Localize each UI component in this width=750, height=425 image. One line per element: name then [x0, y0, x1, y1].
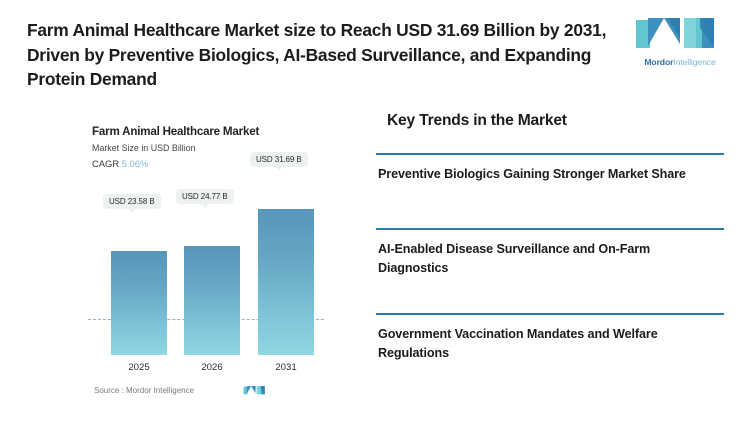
- chart-panel: Farm Animal Healthcare Market Market Siz…: [0, 100, 355, 425]
- chart-cagr: CAGR 5.06%: [92, 158, 148, 169]
- trend-divider-2: [376, 228, 724, 230]
- trend-divider-3: [376, 313, 724, 315]
- chart-title: Farm Animal Healthcare Market: [92, 125, 259, 138]
- trend-item-2[interactable]: AI-Enabled Disease Surveillance and On-F…: [376, 228, 724, 278]
- chart-source: Source : Mordor Intelligence: [94, 386, 194, 395]
- bar-chart-plot: USD 23.58 B USD 24.77 B USD 31.69 B: [92, 175, 322, 355]
- x-axis-label-2025: 2025: [111, 362, 167, 373]
- x-axis-label-2031: 2031: [258, 362, 314, 373]
- bar-2026: [184, 246, 240, 355]
- data-label-2025: USD 23.58 B: [103, 194, 161, 209]
- page-header: Farm Animal Healthcare Market size to Re…: [0, 0, 750, 96]
- data-label-2026: USD 24.77 B: [176, 189, 234, 204]
- bar-2025: [111, 251, 167, 355]
- mordor-logo-icon: [634, 14, 726, 54]
- x-axis-label-2026: 2026: [184, 362, 240, 373]
- x-axis: 2025 2026 2031: [92, 362, 322, 378]
- chart-subtitle: Market Size in USD Billion: [92, 143, 196, 153]
- trend-divider-1: [376, 153, 724, 155]
- brand-logo: MordorIntelligence: [632, 14, 728, 72]
- page-title: Farm Animal Healthcare Market size to Re…: [27, 18, 607, 92]
- trend-item-3[interactable]: Government Vaccination Mandates and Welf…: [376, 313, 724, 363]
- source-mordor-logo-icon: [243, 384, 268, 397]
- trend-item-1[interactable]: Preventive Biologics Gaining Stronger Ma…: [376, 153, 724, 184]
- logo-word-intelligence: Intelligence: [673, 57, 715, 67]
- trend-text-3: Government Vaccination Mandates and Welf…: [376, 325, 688, 363]
- trend-text-2: AI-Enabled Disease Surveillance and On-F…: [376, 240, 688, 278]
- data-label-2031: USD 31.69 B: [250, 152, 308, 167]
- cagr-value: 5.06%: [122, 158, 149, 169]
- bar-2031: [258, 209, 314, 355]
- key-trends-heading: Key Trends in the Market: [387, 112, 567, 130]
- logo-word-mordor: Mordor: [644, 57, 673, 67]
- cagr-label: CAGR: [92, 158, 119, 169]
- key-trends-panel: Key Trends in the Market Preventive Biol…: [376, 100, 726, 425]
- logo-wordmark: MordorIntelligence: [632, 57, 728, 67]
- trend-text-1: Preventive Biologics Gaining Stronger Ma…: [376, 165, 688, 184]
